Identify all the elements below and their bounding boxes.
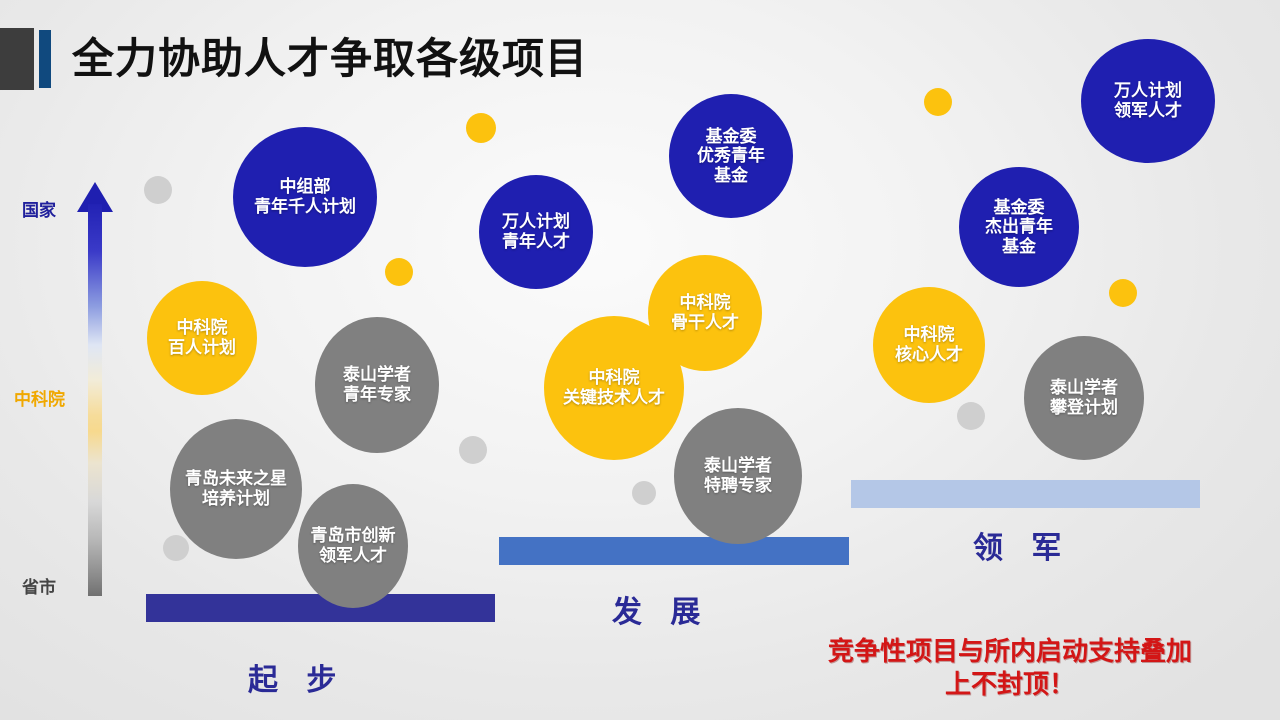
- bubble-cas-ggrc[interactable]: 中科院 骨干人才: [648, 255, 762, 371]
- stage-label-develop: 发 展: [612, 587, 710, 631]
- stage-bar-develop: [499, 537, 849, 565]
- bubble-label: 青岛未来之星 培养计划: [185, 469, 287, 508]
- stage-label-leader: 领 军: [973, 523, 1071, 567]
- dot-gray-2: [459, 436, 487, 464]
- bubble-label: 中科院 骨干人才: [671, 293, 739, 332]
- dot-yellow-1: [466, 113, 496, 143]
- dot-yellow-3: [385, 258, 413, 286]
- bubble-wrjh-ljrc[interactable]: 万人计划 领军人才: [1081, 39, 1215, 163]
- bubble-label: 泰山学者 攀登计划: [1050, 378, 1118, 417]
- dot-gray-1: [144, 176, 172, 204]
- bubble-zzb-qnqr[interactable]: 中组部 青年千人计划: [233, 127, 377, 267]
- bubble-label: 青岛市创新 领军人才: [311, 526, 396, 565]
- bubble-label: 中组部 青年千人计划: [254, 177, 356, 216]
- bubble-cas-brjh[interactable]: 中科院 百人计划: [147, 281, 257, 395]
- stage-label-start: 起 步: [248, 655, 346, 699]
- dot-gray-4: [163, 535, 189, 561]
- axis-label-cas: 中科院: [14, 385, 65, 410]
- bubble-label: 万人计划 青年人才: [502, 212, 570, 251]
- bubble-label: 中科院 百人计划: [168, 318, 236, 357]
- dot-gray-5: [957, 402, 985, 430]
- title-accent-bar: [39, 30, 51, 88]
- bubble-jjw-yxqn[interactable]: 基金委 优秀青年 基金: [669, 94, 793, 218]
- dot-yellow-4: [1109, 279, 1137, 307]
- axis-gradient-shaft: [88, 204, 102, 596]
- bubble-label: 泰山学者 特聘专家: [704, 456, 772, 495]
- bubble-qd-cxljrc[interactable]: 青岛市创新 领军人才: [298, 484, 408, 608]
- axis-label-national: 国家: [22, 196, 56, 221]
- bubble-label: 基金委 杰出青年 基金: [985, 198, 1053, 257]
- emphasis-note: 竞争性项目与所内启动支持叠加 上不封顶！: [745, 635, 1275, 700]
- bubble-label: 基金委 优秀青年 基金: [697, 127, 765, 186]
- bubble-cas-hxrc[interactable]: 中科院 核心人才: [873, 287, 985, 403]
- stage-bar-leader: [851, 480, 1200, 508]
- slide-canvas: 全力协助人才争取各级项目 国家 中科院 省市 起 步发 展领 军 中组部 青年千…: [0, 0, 1280, 720]
- title-dark-block: [0, 28, 34, 90]
- dot-yellow-2: [924, 88, 952, 116]
- level-axis: [84, 182, 106, 596]
- bubble-label: 泰山学者 青年专家: [343, 365, 411, 404]
- page-title: 全力协助人才争取各级项目: [72, 30, 588, 88]
- axis-label-provincial: 省市: [22, 573, 56, 598]
- bubble-label: 中科院 核心人才: [895, 325, 963, 364]
- bubble-label: 万人计划 领军人才: [1114, 81, 1182, 120]
- bubble-tsxz-pdjh[interactable]: 泰山学者 攀登计划: [1024, 336, 1144, 460]
- stage-bar-start: [146, 594, 495, 622]
- bubble-wrjh-qnrc[interactable]: 万人计划 青年人才: [479, 175, 593, 289]
- bubble-label: 中科院 关键技术人才: [563, 368, 665, 407]
- bubble-jjw-jcqn[interactable]: 基金委 杰出青年 基金: [959, 167, 1079, 287]
- bubble-tsxz-tpzj[interactable]: 泰山学者 特聘专家: [674, 408, 802, 544]
- dot-gray-3: [632, 481, 656, 505]
- bubble-qd-wlzx[interactable]: 青岛未来之星 培养计划: [170, 419, 302, 559]
- bubble-tsxz-qnzj[interactable]: 泰山学者 青年专家: [315, 317, 439, 453]
